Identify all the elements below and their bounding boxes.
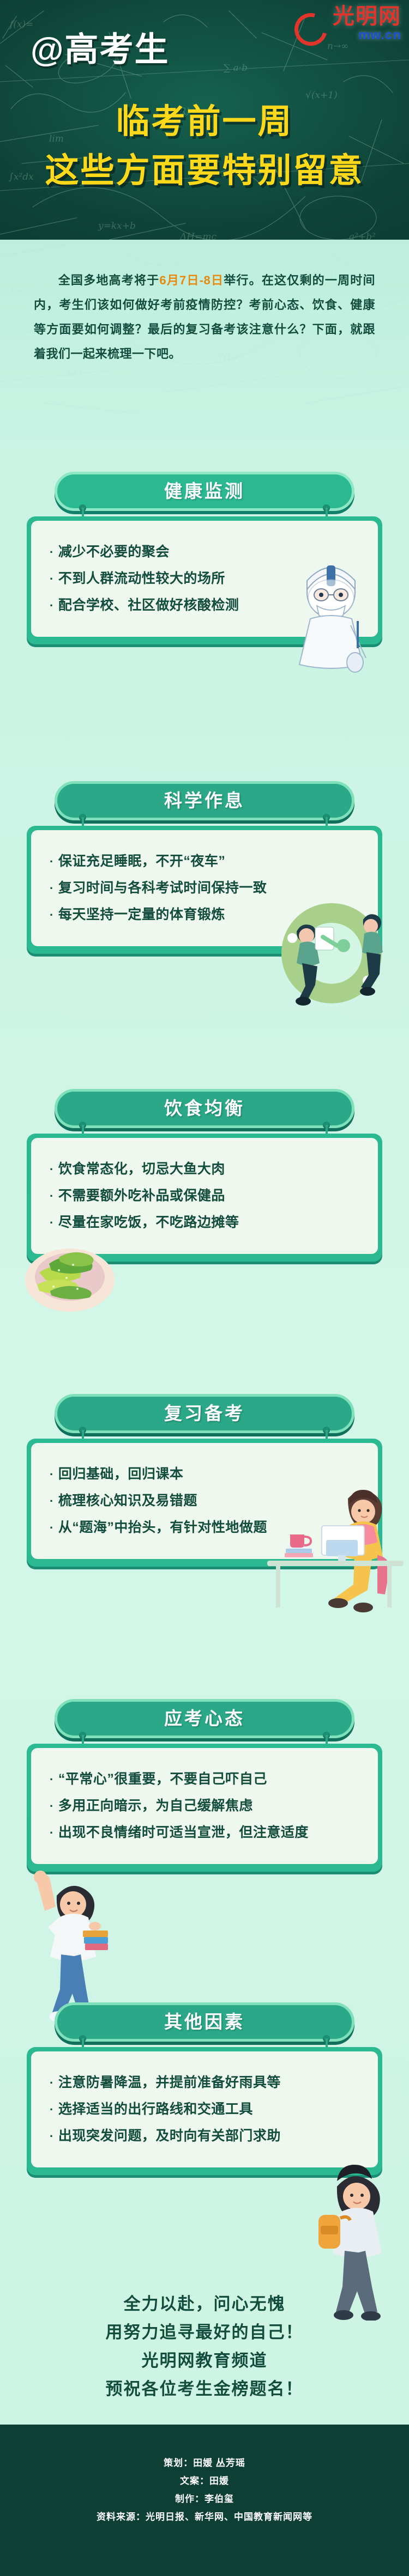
outro-line-4: 预祝各位考生金榜题名！ [0,2375,409,2403]
list-item: ·保证充足睡眠，不开“夜车” [50,852,362,871]
list-item: ·出现不良情绪时可适当宣泄，但注意适度 [50,1823,362,1842]
list-item: ·梳理核心知识及易错题 [50,1491,362,1511]
section-title: 其他因素 [57,2005,352,2039]
list-item: ·选择适当的出行路线和交通工具 [50,2100,362,2119]
credit-planning: 策划：田媛 丛芳瑶 [0,2454,409,2472]
bullet-text: “平常心”很重要，不要自己吓自己 [58,1771,267,1787]
section-header-bar: 饮食均衡 [55,1089,354,1128]
svg-text:y=kx+b: y=kx+b [98,221,136,232]
bullet-text: 复习时间与各科考试时间保持一致 [58,880,267,896]
section-review-preparation: 复习备考 ·回归基础，回归课本 ·梳理核心知识及易错题 ·从“题海”中抬头，有针… [0,1392,409,1567]
section-title: 健康监测 [57,474,352,508]
svg-text:22 ∫: 22 ∫ [65,368,83,378]
credit-copywriting: 文案：田媛 [0,2472,409,2490]
list-item: ·复习时间与各科考试时间保持一致 [50,879,362,898]
list-item: ·多用正向暗示，为自己缓解焦虑 [50,1796,362,1816]
bullet-text: 从“题海”中抬头，有针对性地做题 [58,1520,267,1535]
section-card-inner: ·回归基础，回归课本 ·梳理核心知识及易错题 ·从“题海”中抬头，有针对性地做题 [31,1443,378,1559]
section-card: ·注意防暑降温，并提前准备好雨具等 ·选择适当的出行路线和交通工具 ·出现突发问… [27,2047,382,2175]
bullet-text: 不需要额外吃补品或保健品 [58,1188,225,1203]
credit-sources: 资料来源：光明日报、新华网、中国教育新闻网等 [0,2508,409,2526]
intro-exam-date: 6月7日-8日 [159,273,224,287]
bullet-text: 出现突发问题，及时向有关部门求助 [58,2128,281,2143]
section-health-monitoring: 健康监测 ·减少不必要的聚会 ·不到人群流动性较大的场所 ·配合学校、社区做好核… [0,470,409,644]
section-card-inner: ·注意防暑降温，并提前准备好雨具等 ·选择适当的出行路线和交通工具 ·出现突发问… [31,2051,378,2167]
section-title: 应考心态 [57,1702,352,1735]
section-header-bar: 复习备考 [55,1394,354,1433]
section-card-inner: ·保证充足睡眠，不开“夜车” ·复习时间与各科考试时间保持一致 ·每天坚持一定量… [31,830,378,946]
hero-title-line1: 临考前一周 [0,94,409,143]
section-card-inner: ·饮食常态化，切忌大鱼大肉 ·不需要额外吃补品或保健品 ·尽量在家吃饭，不吃路边… [31,1138,378,1254]
list-item: ·尽量在家吃饭，不吃路边摊等 [50,1213,362,1232]
section-header-bar: 科学作息 [55,781,354,820]
section-card-inner: ·减少不必要的聚会 ·不到人群流动性较大的场所 ·配合学校、社区做好核酸检测 [31,521,378,637]
hero-chalkboard: f(x)=∫x²dx sin(x)(2πR) ∑ a·bcos θ √(x+1)… [0,0,409,256]
bullet-text: 回归基础，回归课本 [58,1466,184,1482]
section-exam-mindset: 应考心态 ·“平常心”很重要，不要自己吓自己 ·多用正向暗示，为自己缓解焦虑 ·… [0,1697,409,1872]
bullet-text: 饮食常态化，切忌大鱼大肉 [58,1161,225,1177]
bullet-text: 保证充足睡眠，不开“夜车” [58,854,226,869]
list-item: ·出现突发问题，及时向有关部门求助 [50,2127,362,2146]
outro-line-1: 全力以赴，问心无愧 [0,2290,409,2318]
bullet-text: 配合学校、社区做好核酸检测 [58,598,239,613]
list-item: ·注意防暑降温，并提前准备好雨具等 [50,2073,362,2092]
list-item: ·饮食常态化，切忌大鱼大肉 [50,1160,362,1179]
section-card: ·饮食常态化，切忌大鱼大肉 ·不需要额外吃补品或保健品 ·尽量在家吃饭，不吃路边… [27,1134,382,1262]
section-header-bar: 其他因素 [55,2002,354,2042]
section-other-factors: 其他因素 ·注意防暑降温，并提前准备好雨具等 ·选择适当的出行路线和交通工具 ·… [0,2000,409,2175]
list-item: ·配合学校、社区做好核酸检测 [50,596,362,615]
section-balanced-diet: 饮食均衡 ·饮食常态化，切忌大鱼大肉 ·不需要额外吃补品或保健品 ·尽量在家吃饭… [0,1087,409,1262]
section-title: 科学作息 [57,784,352,818]
bullet-text: 梳理核心知识及易错题 [58,1493,197,1508]
list-item: ·“平常心”很重要，不要自己吓自己 [50,1770,362,1789]
bullet-text: 减少不必要的聚会 [58,544,170,559]
bullet-text: 多用正向暗示，为自己缓解焦虑 [58,1798,253,1813]
section-card-inner: ·“平常心”很重要，不要自己吓自己 ·多用正向暗示，为自己缓解焦虑 ·出现不良情… [31,1748,378,1864]
at-handle: @高考生 [31,22,265,71]
section-card: ·减少不必要的聚会 ·不到人群流动性较大的场所 ·配合学校、社区做好核酸检测 [27,516,382,644]
list-item: ·不到人群流动性较大的场所 [50,569,362,588]
svg-text:f(x)=: f(x)= [9,19,33,30]
bullet-text: 尽量在家吃饭，不吃路边摊等 [58,1215,239,1230]
intro-paragraph: 全国多地高考将于6月7日-8日举行。在这仅剩的一周时间内，考生们该如何做好考前疫… [34,268,375,366]
list-item: ·减少不必要的聚会 [50,543,362,562]
section-card: ·保证充足睡眠，不开“夜车” ·复习时间与各科考试时间保持一致 ·每天坚持一定量… [27,826,382,954]
section-card: ·回归基础，回归课本 ·梳理核心知识及易错题 ·从“题海”中抬头，有针对性地做题 [27,1439,382,1567]
section-card: ·“平常心”很重要，不要自己吓自己 ·多用正向暗示，为自己缓解焦虑 ·出现不良情… [27,1744,382,1872]
svg-text:tan α: tan α [11,287,33,296]
brand-logo: 光明网 mw.cn [292,4,401,51]
bullet-text: 选择适当的出行路线和交通工具 [58,2102,253,2117]
credit-production: 制作：李伯玺 [0,2490,409,2508]
section-scientific-routine: 科学作息 ·保证充足睡眠，不开“夜车” ·复习时间与各科考试时间保持一致 ·每天… [0,779,409,954]
intro-text-part1: 全国多地高考将于 [58,273,159,287]
bullet-text: 注意防暑降温，并提前准备好雨具等 [58,2075,281,2090]
list-item: ·不需要额外吃补品或保健品 [50,1186,362,1205]
bullet-text: 每天坚持一定量的体育锻炼 [58,907,225,922]
section-header-bar: 应考心态 [55,1699,354,1738]
section-title: 复习备考 [57,1397,352,1430]
list-item: ·从“题海”中抬头，有针对性地做题 [50,1518,362,1537]
list-item: ·回归基础，回归课本 [50,1465,362,1484]
credits-block: 策划：田媛 丛芳瑶 文案：田媛 制作：李伯玺 资料来源：光明日报、新华网、中国教… [0,2425,409,2576]
hero-title-line2: 这些方面要特别留意 [0,143,409,192]
bullet-text: 出现不良情绪时可适当宣泄，但注意适度 [58,1825,309,1840]
list-item: ·每天坚持一定量的体育锻炼 [50,905,362,924]
section-header-bar: 健康监测 [55,472,354,511]
bullet-text: 不到人群流动性较大的场所 [58,571,225,586]
outro-line-3: 光明网教育频道 [0,2347,409,2375]
outro-line-2: 用努力追寻最好的自己！ [0,2318,409,2347]
section-title: 饮食均衡 [57,1092,352,1125]
